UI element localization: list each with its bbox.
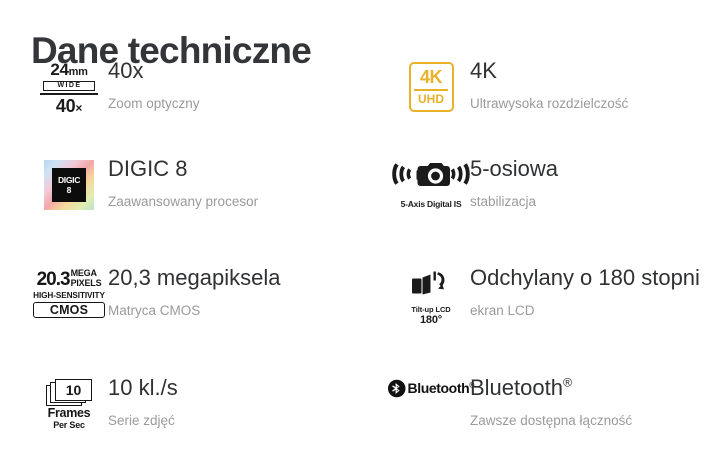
- spec-title: 40x: [108, 56, 200, 86]
- spec-icon: 4K UHD: [392, 56, 470, 112]
- spec-item-megapixels: 20.3 MEGA PIXELS HIGH-SENSITIVITY CMOS 2…: [0, 263, 380, 373]
- icon-wide-label: WIDE: [43, 81, 95, 91]
- registered-mark: ®: [563, 376, 572, 390]
- spec-row: 24mm WIDE 40× 40x Zoom optyczny 4K: [0, 56, 724, 154]
- icon-degrees: 180°: [399, 314, 463, 326]
- spec-title-text: Bluetooth: [470, 375, 563, 400]
- digic-8-processor-icon: DIGIC 8: [44, 160, 94, 210]
- spec-row: 10 Frames Per Sec 10 kl./s Serie zdjęć: [0, 373, 724, 453]
- icon-4k-label: 4K: [420, 68, 442, 87]
- 20-3-megapixel-cmos-icon: 20.3 MEGA PIXELS HIGH-SENSITIVITY CMOS: [31, 269, 107, 318]
- bluetooth-wordmark: Bluetooth®: [408, 381, 474, 396]
- spec-icon: Tilt-up LCD 180°: [392, 263, 470, 326]
- spec-title: 10 kl./s: [108, 373, 178, 403]
- spec-title: 20,3 megapiksela: [108, 263, 280, 293]
- icon-megapixel-value: 20.3: [37, 270, 70, 289]
- camera-motion-glyph: [388, 160, 474, 192]
- spec-text: 5-osiowa stabilizacja: [470, 154, 558, 212]
- 4k-uhd-icon: 4K UHD: [409, 62, 454, 112]
- spec-row: DIGIC 8 DIGIC 8 Zaawansowany procesor: [0, 154, 724, 263]
- spec-item-4k-resolution: 4K UHD 4K Ultrawysoka rozdzielczość: [380, 56, 724, 154]
- 10-frames-per-sec-icon: 10 Frames Per Sec: [39, 379, 99, 430]
- spec-icon: 24mm WIDE 40×: [30, 56, 108, 118]
- tilt-up-lcd-180-icon: Tilt-up LCD 180°: [399, 269, 463, 326]
- spec-subtitle: Ultrawysoka rozdzielczość: [470, 94, 628, 114]
- spec-text: 40x Zoom optyczny: [108, 56, 200, 114]
- spec-subtitle: Zaawansowany procesor: [108, 192, 258, 212]
- icon-cmos-label: CMOS: [33, 302, 105, 318]
- zoom-24mm-wide-40x-icon: 24mm WIDE 40×: [38, 62, 100, 118]
- icon-persec-label: Per Sec: [39, 420, 99, 430]
- icon-zoom-value: 40: [56, 96, 75, 116]
- spec-icon: Bluetooth®: [392, 373, 470, 398]
- icon-zoom-unit: ×: [75, 101, 82, 115]
- icon-caption: 5-Axis Digital IS: [388, 199, 474, 209]
- spec-subtitle: stabilizacja: [470, 192, 558, 212]
- specs-grid: 24mm WIDE 40× 40x Zoom optyczny 4K: [0, 56, 724, 453]
- icon-uhd-label: UHD: [418, 93, 444, 106]
- spec-text: 4K Ultrawysoka rozdzielczość: [470, 56, 628, 114]
- icon-caption: Tilt-up LCD: [399, 305, 463, 314]
- bluetooth-wordmark-text: Bluetooth: [408, 380, 470, 396]
- spec-subtitle: Matryca CMOS: [108, 301, 280, 321]
- icon-frames-label: Frames: [39, 407, 99, 420]
- tilt-screen-glyph: [408, 269, 454, 299]
- spec-item-bluetooth: Bluetooth® Bluetooth® Zawsze dostępna łą…: [380, 373, 724, 453]
- icon-top-row: 20.3 MEGA PIXELS: [31, 269, 107, 289]
- spec-title: 4K: [470, 56, 628, 86]
- spec-title: Bluetooth®: [470, 373, 632, 403]
- tech-specs-page: Dane techniczne 24mm WIDE 40× 40x Zoom o…: [0, 0, 724, 468]
- spec-subtitle: ekran LCD: [470, 301, 700, 321]
- spec-item-tilt-lcd: Tilt-up LCD 180° Odchylany o 180 stopni …: [380, 263, 724, 373]
- spec-text: Odchylany o 180 stopni ekran LCD: [470, 263, 700, 321]
- spec-item-image-stabilization: 5-Axis Digital IS 5-osiowa stabilizacja: [380, 154, 724, 263]
- icon-focal-length: 24: [50, 60, 68, 79]
- spec-item-optical-zoom: 24mm WIDE 40× 40x Zoom optyczny: [0, 56, 380, 154]
- spec-item-burst-rate: 10 Frames Per Sec 10 kl./s Serie zdjęć: [0, 373, 380, 453]
- spec-title: DIGIC 8: [108, 154, 258, 184]
- spec-icon: 10 Frames Per Sec: [30, 373, 108, 430]
- icon-digic-label: DIGIC: [58, 176, 80, 185]
- spec-title: 5-osiowa: [470, 154, 558, 184]
- 5-axis-digital-is-icon: 5-Axis Digital IS: [388, 160, 474, 209]
- spec-subtitle: Serie zdjęć: [108, 411, 178, 431]
- spec-subtitle: Zawsze dostępna łączność: [470, 411, 632, 431]
- spec-icon: 20.3 MEGA PIXELS HIGH-SENSITIVITY CMOS: [30, 263, 108, 318]
- icon-sensitivity-label: HIGH-SENSITIVITY: [31, 290, 107, 301]
- icon-pixels-label: PIXELS: [71, 279, 102, 289]
- icon-frame-front: 10: [55, 379, 92, 401]
- spec-subtitle: Zoom optyczny: [108, 94, 200, 114]
- icon-chip: DIGIC 8: [52, 168, 86, 202]
- icon-megapixel-words: MEGA PIXELS: [71, 269, 102, 289]
- icon-divider: [40, 93, 98, 95]
- spec-icon: 5-Axis Digital IS: [392, 154, 470, 209]
- spec-text: DIGIC 8 Zaawansowany procesor: [108, 154, 258, 212]
- bluetooth-logo-icon: Bluetooth®: [388, 379, 474, 398]
- icon-divider: [414, 89, 448, 91]
- spec-title: Odchylany o 180 stopni: [470, 263, 700, 293]
- spec-text: 10 kl./s Serie zdjęć: [108, 373, 178, 431]
- spec-item-digic-processor: DIGIC 8 DIGIC 8 Zaawansowany procesor: [0, 154, 380, 263]
- icon-focal-unit: mm: [69, 66, 88, 78]
- icon-digic-version: 8: [67, 185, 72, 195]
- icon-frame-stack: 10: [46, 379, 92, 406]
- bluetooth-rune-icon: [388, 379, 406, 398]
- spec-text: 20,3 megapiksela Matryca CMOS: [108, 263, 280, 321]
- spec-row: 20.3 MEGA PIXELS HIGH-SENSITIVITY CMOS 2…: [0, 263, 724, 373]
- spec-icon: DIGIC 8: [30, 154, 108, 210]
- spec-text: Bluetooth® Zawsze dostępna łączność: [470, 373, 632, 431]
